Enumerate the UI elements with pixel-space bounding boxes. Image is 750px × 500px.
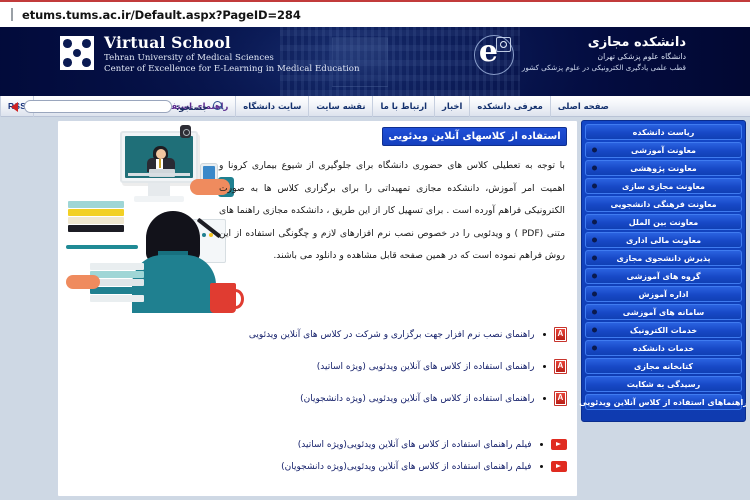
pdf-link-student-guide[interactable]: راهنمای استفاده از کلاس های آنلاین ویدئو… bbox=[300, 394, 534, 404]
brand-tagline-en: Center of Excellence for E-Learning in M… bbox=[104, 64, 360, 74]
bullet-icon bbox=[592, 184, 597, 189]
bullet-marker bbox=[543, 333, 547, 337]
right-sidebar-menu: ریاست دانشکده معاونت آموزشی معاونت پژوهش… bbox=[581, 120, 746, 422]
sidebar-item-online-class-guides[interactable]: راهنماهای استفاده از کلاس آنلاین ویدئویی bbox=[585, 394, 742, 410]
brand-english: Virtual School Tehran University of Medi… bbox=[60, 34, 360, 75]
sidebar-item-label: معاونت پژوهشی bbox=[630, 164, 696, 173]
sidebar-item-label: معاونت مالی اداری bbox=[626, 236, 701, 245]
video-link-student-guide[interactable]: فیلم راهنمای استفاده از کلاس های آنلاین … bbox=[281, 462, 531, 472]
student-body bbox=[132, 255, 216, 313]
list-item[interactable]: فیلم راهنمای استفاده از کلاس های آنلاین … bbox=[67, 439, 567, 450]
nav-item-home[interactable]: صفحه اصلی bbox=[550, 96, 616, 117]
sidebar-item-label: معاونت مجازی سازی bbox=[622, 182, 705, 191]
video-icon bbox=[551, 439, 567, 450]
sidebar-item-label: معاونت فرهنگی دانشجویی bbox=[610, 200, 716, 209]
bullet-marker bbox=[540, 465, 544, 469]
sidebar-item-education-office[interactable]: اداره آموزش bbox=[585, 286, 742, 302]
nav-item-news[interactable]: اخبار bbox=[434, 96, 469, 117]
books-stack-top-icon bbox=[68, 201, 124, 235]
bullet-icon bbox=[592, 148, 597, 153]
list-item[interactable]: راهنمای استفاده از کلاس های آنلاین ویدئو… bbox=[67, 391, 567, 406]
bullet-marker bbox=[543, 365, 547, 369]
text-cursor bbox=[11, 8, 13, 21]
sidebar-item-deanship[interactable]: ریاست دانشکده bbox=[585, 124, 742, 140]
nav-item-contact-us[interactable]: ارتباط با ما bbox=[372, 96, 434, 117]
search-label: جستجو: bbox=[176, 102, 208, 112]
bullet-icon bbox=[592, 346, 597, 351]
page-title: استفاده از کلاسهای آنلاین ویدئویی bbox=[382, 127, 567, 146]
page-title-text: استفاده از کلاسهای آنلاین ویدئویی bbox=[388, 131, 560, 142]
bullet-icon bbox=[592, 220, 597, 225]
pdf-icon bbox=[554, 359, 567, 374]
virtual-school-logo-icon bbox=[60, 36, 94, 70]
e-learning-logo-icon: e bbox=[474, 33, 514, 75]
desk-line bbox=[66, 245, 138, 249]
bullet-icon bbox=[592, 274, 597, 279]
brand-tagline-fa: قطب علمی یادگیری الکترونیکی در علوم پزشک… bbox=[522, 63, 686, 72]
bullet-icon bbox=[592, 256, 597, 261]
video-icon bbox=[551, 461, 567, 472]
sidebar-item-virtualization-deputy[interactable]: معاونت مجازی سازی bbox=[585, 178, 742, 194]
nav-item-site-map[interactable]: نقشه سایت bbox=[308, 96, 372, 117]
page-body: استفاده از کلاسهای آنلاین ویدئویی bbox=[0, 117, 750, 500]
sidebar-item-label: خدمات الکترونیک bbox=[630, 326, 697, 335]
hand-holding-books-icon bbox=[66, 275, 100, 289]
content-panel: استفاده از کلاسهای آنلاین ویدئویی bbox=[57, 120, 578, 497]
nav-item-about-faculty[interactable]: معرفی دانشکده bbox=[469, 96, 549, 117]
sidebar-item-label: پذیرش دانشجوی مجازی bbox=[617, 254, 711, 263]
sidebar-item-electronic-services[interactable]: خدمات الکترونیک bbox=[585, 322, 742, 338]
video-guide-list: فیلم راهنمای استفاده از کلاس های آنلاین … bbox=[67, 439, 567, 483]
collapse-arrow-icon[interactable] bbox=[11, 102, 18, 112]
sidebar-item-label: سامانه های آموزشی bbox=[623, 308, 704, 317]
pdf-guide-list: راهنمای نصب نرم افزار جهت برگزاری و شرکت… bbox=[67, 327, 567, 423]
sidebar-item-label: معاونت آموزشی bbox=[631, 146, 696, 155]
brand-subtitle-fa: دانشگاه علوم پزشکی تهران bbox=[522, 52, 686, 61]
bullet-marker bbox=[543, 397, 547, 401]
sidebar-item-virtual-library[interactable]: کتابخانه مجازی bbox=[585, 358, 742, 374]
bullet-icon bbox=[592, 166, 597, 171]
brand-title-fa: دانشکده مجازی bbox=[522, 35, 686, 50]
bullet-icon bbox=[592, 238, 597, 243]
pdf-link-teacher-guide[interactable]: راهنمای استفاده از کلاس های آنلاین ویدئو… bbox=[317, 362, 535, 372]
sidebar-item-label: گروه های آموزشی bbox=[626, 272, 700, 281]
brand-subtitle-en: Tehran University of Medical Sciences bbox=[104, 53, 360, 63]
sidebar-item-educational-groups[interactable]: گروه های آموزشی bbox=[585, 268, 742, 284]
sidebar-item-label: خدمات دانشکده bbox=[633, 344, 694, 353]
sidebar-item-educational-systems[interactable]: سامانه های آموزشی bbox=[585, 304, 742, 320]
pdf-icon bbox=[554, 391, 567, 406]
list-item[interactable]: فیلم راهنمای استفاده از کلاس های آنلاین … bbox=[67, 461, 567, 472]
webcam-icon bbox=[180, 125, 191, 138]
sidebar-item-financial-admin-deputy[interactable]: معاونت مالی اداری bbox=[585, 232, 742, 248]
sidebar-item-label: کتابخانه مجازی bbox=[634, 362, 693, 371]
browser-url-bar[interactable]: etums.tums.ac.ir/Default.aspx?PageID=284 bbox=[0, 0, 750, 27]
list-item[interactable]: راهنمای نصب نرم افزار جهت برگزاری و شرکت… bbox=[67, 327, 567, 342]
monitor-icon bbox=[120, 131, 198, 183]
sidebar-item-cultural-student-deputy[interactable]: معاونت فرهنگی دانشجویی bbox=[585, 196, 742, 212]
sidebar-item-education-deputy[interactable]: معاونت آموزشی bbox=[585, 142, 742, 158]
bullet-icon bbox=[592, 310, 597, 315]
sidebar-item-label: رسیدگی به شکایت bbox=[627, 380, 701, 389]
intro-paragraph: با توجه به تعطیلی کلاس های حضوری دانشگاه… bbox=[219, 155, 565, 268]
sidebar-item-label: راهنماهای استفاده از کلاس آنلاین ویدئویی bbox=[579, 398, 748, 407]
sidebar-item-faculty-services[interactable]: خدمات دانشکده bbox=[585, 340, 742, 356]
sidebar-item-label: ریاست دانشکده bbox=[633, 128, 695, 137]
brand-title-en: Virtual School bbox=[104, 34, 360, 52]
bullet-marker bbox=[540, 443, 544, 447]
search-area: جستجو: bbox=[0, 96, 275, 117]
search-icon bbox=[213, 101, 224, 112]
search-input[interactable] bbox=[24, 100, 172, 113]
bullet-icon bbox=[592, 292, 597, 297]
elearning-illustration bbox=[62, 123, 242, 323]
brand-farsi: دانشکده مجازی دانشگاه علوم پزشکی تهران ق… bbox=[474, 35, 686, 75]
sidebar-item-international-deputy[interactable]: معاونت بین الملل bbox=[585, 214, 742, 230]
pdf-icon bbox=[554, 327, 567, 342]
pdf-link-install-guide[interactable]: راهنمای نصب نرم افزار جهت برگزاری و شرکت… bbox=[249, 330, 535, 340]
list-item[interactable]: راهنمای استفاده از کلاس های آنلاین ویدئو… bbox=[67, 359, 567, 374]
page-right-edge bbox=[746, 117, 750, 500]
monitor-base bbox=[134, 196, 184, 202]
atom-icon bbox=[496, 37, 511, 52]
monitor-stand bbox=[148, 183, 170, 197]
site-header: Virtual School Tehran University of Medi… bbox=[0, 27, 750, 96]
bullet-icon bbox=[592, 328, 597, 333]
coffee-mug-icon bbox=[210, 283, 236, 313]
page-root: etums.tums.ac.ir/Default.aspx?PageID=284… bbox=[0, 0, 750, 500]
url-text: etums.tums.ac.ir/Default.aspx?PageID=284 bbox=[22, 8, 301, 22]
sidebar-item-label: اداره آموزش bbox=[638, 290, 688, 299]
video-link-teacher-guide[interactable]: فیلم راهنمای استفاده از کلاس های آنلاین … bbox=[298, 440, 532, 450]
sidebar-item-virtual-student-admission[interactable]: پذیرش دانشجوی مجازی bbox=[585, 250, 742, 266]
sidebar-item-complaints[interactable]: رسیدگی به شکایت bbox=[585, 376, 742, 392]
sidebar-item-label: معاونت بین الملل bbox=[629, 218, 698, 227]
sidebar-item-research-deputy[interactable]: معاونت پژوهشی bbox=[585, 160, 742, 176]
